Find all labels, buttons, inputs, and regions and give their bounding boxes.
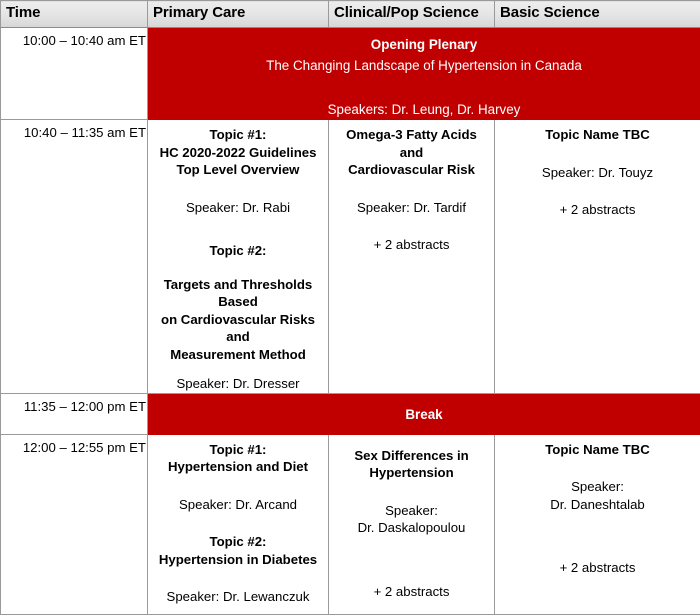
column-header-primary-care-label: Primary Care: [148, 1, 328, 25]
spacer: [154, 513, 322, 533]
session-speaker-line-1: Speaker:: [335, 502, 488, 520]
spacer: [501, 181, 694, 201]
plenary-speakers: Speakers: Dr. Leung, Dr. Harvey: [148, 100, 700, 119]
session-abstracts: + 2 abstracts: [501, 559, 694, 577]
table-body: 10:00 – 10:40 am ET Opening Plenary The …: [1, 28, 700, 615]
table-row: 10:00 – 10:40 am ET Opening Plenary The …: [1, 28, 700, 120]
time-label: 10:40 – 11:35 am ET: [1, 120, 147, 141]
topic-2-title-line-2: on Cardiovascular Risks and: [154, 311, 322, 346]
topic-2-title-line-3: Measurement Method: [154, 346, 322, 364]
session-cell-clinical-pop-science-2: Sex Differences in Hypertension Speaker:…: [329, 434, 495, 614]
session-cell-clinical-pop-science-1: Omega-3 Fatty Acids and Cardiovascular R…: [329, 120, 495, 394]
spacer: [335, 216, 488, 236]
session-abstracts: + 2 abstracts: [335, 583, 488, 601]
session-content: Sex Differences in Hypertension Speaker:…: [329, 435, 494, 601]
spacer: [154, 216, 322, 242]
session-content: Topic Name TBC Speaker: Dr. Touyz + 2 ab…: [495, 120, 700, 219]
spacer: [335, 179, 488, 199]
topic-1-title-line-1: HC 2020-2022 Guidelines: [154, 144, 322, 162]
session-title-line-1: Sex Differences in: [335, 447, 488, 465]
table-row: 12:00 – 12:55 pm ET Topic #1: Hypertensi…: [1, 434, 700, 614]
session-speaker: Speaker: Dr. Tardif: [335, 199, 488, 217]
plenary-content: Opening Plenary The Changing Landscape o…: [148, 28, 700, 119]
spacer: [335, 537, 488, 583]
session-cell-basic-science-1: Topic Name TBC Speaker: Dr. Touyz + 2 ab…: [495, 120, 700, 394]
session-title-line-1: Topic Name TBC: [501, 441, 694, 459]
session-content: Topic #1: HC 2020-2022 Guidelines Top Le…: [148, 120, 328, 393]
break-content: Break: [148, 394, 700, 424]
session-speaker: Speaker: Dr. Touyz: [501, 164, 694, 182]
session-speaker-line-2: Dr. Daskalopoulou: [335, 519, 488, 537]
spacer: [501, 513, 694, 559]
session-abstracts: + 2 abstracts: [501, 201, 694, 219]
time-label: 12:00 – 12:55 pm ET: [1, 435, 147, 456]
topic-1-speaker: Speaker: Dr. Arcand: [154, 496, 322, 514]
topic-2-speaker: Speaker: Dr. Dresser: [154, 375, 322, 393]
session-title-line-1: Omega-3 Fatty Acids and: [335, 126, 488, 161]
spacer: [335, 482, 488, 502]
topic-1-label: Topic #1:: [154, 126, 322, 144]
time-cell-break: 11:35 – 12:00 pm ET: [1, 393, 148, 434]
spacer: [154, 363, 322, 375]
time-cell-session-2: 12:00 – 12:55 pm ET: [1, 434, 148, 614]
topic-1-title-line-2: Top Level Overview: [154, 161, 322, 179]
plenary-cell: Opening Plenary The Changing Landscape o…: [148, 28, 700, 120]
column-header-clinical-pop-science-label: Clinical/Pop Science: [329, 1, 494, 25]
column-header-basic-science: Basic Science: [495, 1, 700, 28]
time-cell-opening-plenary: 10:00 – 10:40 am ET: [1, 28, 148, 120]
spacer: [501, 458, 694, 478]
column-header-time-label: Time: [1, 1, 147, 25]
session-abstracts: + 2 abstracts: [335, 236, 488, 254]
session-speaker-line-2: Dr. Daneshtalab: [501, 496, 694, 514]
session-content: Omega-3 Fatty Acids and Cardiovascular R…: [329, 120, 494, 254]
spacer: [154, 568, 322, 588]
table-header: Time Primary Care Clinical/Pop Science B…: [1, 1, 700, 28]
conference-schedule-table: Time Primary Care Clinical/Pop Science B…: [0, 0, 700, 615]
column-header-time: Time: [1, 1, 148, 28]
topic-1-title-line-1: Hypertension and Diet: [154, 458, 322, 476]
spacer: [154, 179, 322, 199]
break-title: Break: [148, 406, 700, 424]
table-row: 10:40 – 11:35 am ET Topic #1: HC 2020-20…: [1, 120, 700, 394]
spacer: [501, 144, 694, 164]
topic-1-speaker: Speaker: Dr. Rabi: [154, 199, 322, 217]
spacer: [154, 260, 322, 276]
session-cell-primary-care-1: Topic #1: HC 2020-2022 Guidelines Top Le…: [148, 120, 329, 394]
session-title-line-2: Hypertension: [335, 464, 488, 482]
time-label: 10:00 – 10:40 am ET: [1, 28, 147, 49]
topic-2-title-line-1: Targets and Thresholds Based: [154, 276, 322, 311]
time-cell-session-1: 10:40 – 11:35 am ET: [1, 120, 148, 394]
session-cell-basic-science-2: Topic Name TBC Speaker: Dr. Daneshtalab …: [495, 434, 700, 614]
column-header-basic-science-label: Basic Science: [495, 1, 700, 25]
plenary-title: Opening Plenary: [148, 35, 700, 54]
header-row: Time Primary Care Clinical/Pop Science B…: [1, 1, 700, 28]
topic-2-speaker: Speaker: Dr. Lewanczuk: [154, 588, 322, 606]
session-content: Topic Name TBC Speaker: Dr. Daneshtalab …: [495, 435, 700, 577]
topic-2-label: Topic #2:: [154, 533, 322, 551]
break-cell: Break: [148, 393, 700, 434]
session-title-line-2: Cardiovascular Risk: [335, 161, 488, 179]
spacer: [154, 476, 322, 496]
session-speaker-line-1: Speaker:: [501, 478, 694, 496]
plenary-subtitle: The Changing Landscape of Hypertension i…: [148, 56, 700, 75]
topic-1-label: Topic #1:: [154, 441, 322, 459]
session-content: Topic #1: Hypertension and Diet Speaker:…: [148, 435, 328, 606]
column-header-primary-care: Primary Care: [148, 1, 329, 28]
session-cell-primary-care-2: Topic #1: Hypertension and Diet Speaker:…: [148, 434, 329, 614]
table-row: 11:35 – 12:00 pm ET Break: [1, 393, 700, 434]
session-title-line-1: Topic Name TBC: [501, 126, 694, 144]
column-header-clinical-pop-science: Clinical/Pop Science: [329, 1, 495, 28]
time-label: 11:35 – 12:00 pm ET: [1, 394, 147, 415]
topic-2-label: Topic #2:: [154, 242, 322, 260]
topic-2-title-line-1: Hypertension in Diabetes: [154, 551, 322, 569]
